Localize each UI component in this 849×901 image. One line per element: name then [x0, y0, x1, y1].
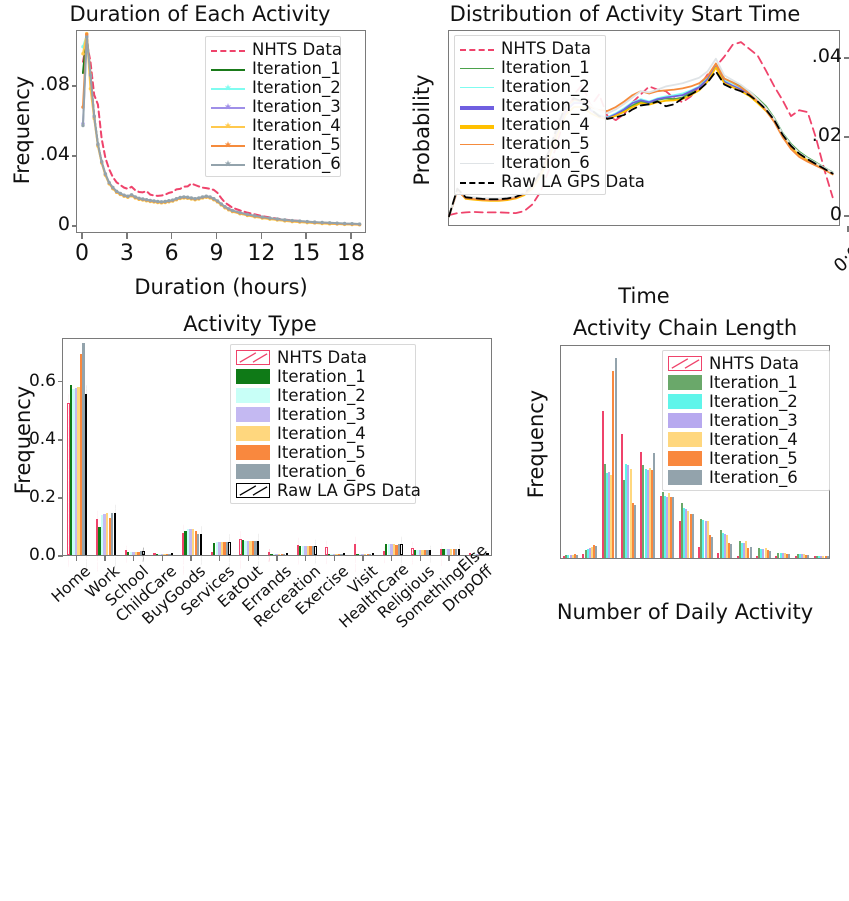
activitytype-legend-item-3: Iteration_3	[236, 405, 410, 424]
legend-label: Iteration_5	[709, 449, 798, 468]
activitytype-legend-item-7: Raw LA GPS Data	[236, 481, 410, 500]
bar-activitytype-0-7	[85, 394, 87, 555]
duration-legend-item-4: Iteration_4	[211, 116, 335, 135]
legend-swatch-6	[460, 155, 494, 171]
panel-starttime: Distribution of Activity Start Time Prob…	[400, 0, 849, 310]
series-marker	[85, 35, 88, 38]
legend-swatch-1	[236, 369, 270, 384]
legend-swatch-5	[211, 137, 245, 153]
series-marker	[253, 214, 256, 217]
legend-label: NHTS Data	[501, 39, 591, 58]
series-marker	[89, 73, 92, 76]
ytick-label: 0.4	[14, 429, 56, 449]
legend-swatch-6	[211, 156, 245, 172]
ytick-label: 0.0	[14, 545, 56, 565]
activitytype-legend-item-1: Iteration_1	[236, 367, 410, 386]
series-marker	[201, 195, 204, 198]
legend-line-icon	[460, 68, 494, 69]
starttime-legend-item-6: Iteration_6	[460, 153, 600, 172]
activitytype-legend-item-5: Iteration_5	[236, 443, 410, 462]
ytick-mark	[72, 155, 77, 157]
legend-swatch-0	[211, 42, 245, 58]
legend-patch	[236, 445, 270, 460]
xtick-mark	[350, 233, 352, 239]
legend-swatch-0	[668, 356, 702, 371]
series-marker	[276, 217, 279, 220]
series-marker	[137, 197, 140, 200]
ytick-mark	[58, 381, 63, 383]
bar-activitytype-13-7	[458, 549, 460, 555]
chainlength-legend-item-1: Iteration_1	[668, 373, 824, 392]
xtick-label: 12	[236, 241, 286, 266]
activitytype-legend-item-6: Iteration_6	[236, 462, 410, 481]
xtick-label: 6	[147, 241, 197, 266]
legend-swatch-4	[668, 432, 702, 447]
ytick-mark	[844, 136, 849, 138]
xtick-label: 3	[102, 241, 152, 266]
bar-chainlength-7-6	[711, 537, 713, 558]
legend-label: Iteration_3	[277, 405, 366, 424]
xtick-mark	[420, 556, 422, 561]
chainlength-legend-item-6: Iteration_6	[668, 468, 824, 487]
bar-chainlength-4-6	[653, 453, 655, 558]
series-marker	[283, 218, 286, 221]
xtick-label: 15	[281, 241, 331, 266]
ytick-label: 0.2	[14, 487, 56, 507]
xtick-mark	[276, 556, 278, 561]
legend-label: Iteration_6	[277, 462, 366, 481]
panel-activitytype: Activity Type Frequency 0.60.40.20.0 Hom…	[0, 310, 510, 645]
starttime-xlabel: Time	[448, 284, 840, 308]
legend-swatch-1	[668, 375, 702, 390]
legend-label: Iteration_1	[277, 367, 366, 386]
legend-patch	[668, 470, 702, 485]
bar-activitytype-11-7	[400, 544, 402, 555]
xtick-label: 18	[326, 241, 376, 266]
series-marker	[92, 114, 95, 117]
legend-swatch-5	[668, 451, 702, 466]
ytick-label: 0	[30, 213, 70, 235]
ytick-label: .02	[800, 124, 842, 146]
legend-line-icon	[460, 49, 494, 51]
starttime-legend-item-5: Iteration_5	[460, 134, 600, 153]
series-marker	[246, 213, 249, 216]
ytick-label: 0	[800, 203, 842, 225]
legend-label: Iteration_4	[252, 116, 341, 135]
bar-chainlength-10-6	[769, 551, 771, 558]
legend-label: Iteration_2	[501, 77, 590, 96]
legend-label: Iteration_6	[501, 153, 590, 172]
bar-chainlength-8-6	[730, 544, 732, 558]
xtick-mark	[261, 233, 263, 239]
chainlength-legend-item-0: NHTS Data	[668, 354, 824, 373]
legend-label: NHTS Data	[277, 348, 367, 367]
legend-patch	[668, 375, 702, 390]
series-marker	[164, 200, 167, 203]
legend-patch	[236, 483, 270, 498]
legend-label: Iteration_2	[709, 392, 798, 411]
duration-legend-item-3: Iteration_3	[211, 97, 335, 116]
legend-label: Iteration_2	[277, 386, 366, 405]
chainlength-legend: NHTS DataIteration_1Iteration_2Iteration…	[662, 350, 830, 491]
series-marker	[197, 196, 200, 199]
activitytype-legend-item-2: Iteration_2	[236, 386, 410, 405]
chainlength-legend-item-2: Iteration_2	[668, 392, 824, 411]
legend-line-icon	[460, 106, 494, 110]
legend-patch	[236, 407, 270, 422]
legend-swatch-3	[236, 407, 270, 422]
starttime-legend-item-7: Raw LA GPS Data	[460, 172, 600, 191]
ytick-mark	[58, 497, 63, 499]
legend-patch	[236, 350, 270, 365]
bar-activitytype-7-7	[286, 553, 288, 555]
series-marker	[145, 198, 148, 201]
xtick-label: 0:00	[818, 234, 849, 287]
legend-label: Iteration_3	[709, 411, 798, 430]
xtick-mark	[104, 556, 106, 561]
xtick-mark	[81, 233, 83, 239]
legend-label: Iteration_2	[252, 78, 341, 97]
bar-activitytype-5-7	[228, 542, 230, 555]
xtick-mark	[171, 233, 173, 239]
chainlength-ylabel: Frequency	[524, 354, 548, 534]
series-marker	[171, 198, 174, 201]
series-marker	[156, 200, 159, 203]
series-marker	[130, 193, 133, 196]
legend-label: Raw LA GPS Data	[277, 481, 421, 500]
series-marker	[141, 197, 144, 200]
xtick-mark	[391, 556, 393, 561]
legend-swatch-3	[668, 413, 702, 428]
legend-swatch-4	[236, 426, 270, 441]
series-marker	[313, 220, 316, 223]
series-marker	[335, 221, 338, 224]
legend-label: NHTS Data	[709, 354, 799, 373]
activitytype-title: Activity Type	[60, 312, 440, 336]
activitytype-legend-item-0: NHTS Data	[236, 348, 410, 367]
legend-line-icon	[211, 69, 245, 71]
series-marker	[208, 195, 211, 198]
legend-swatch-2	[460, 79, 494, 95]
series-marker	[261, 215, 264, 218]
duration-legend-item-2: Iteration_2	[211, 78, 335, 97]
starttime-legend-item-4: Iteration_4	[460, 115, 600, 134]
series-marker	[115, 190, 118, 193]
legend-label: Iteration_6	[252, 154, 341, 173]
series-marker	[107, 181, 110, 184]
bar-chainlength-13-6	[827, 556, 829, 558]
series-marker	[216, 199, 219, 202]
duration-title: Duration of Each Activity	[0, 2, 400, 26]
legend-label: Iteration_3	[501, 96, 590, 115]
bar-activitytype-8-7	[314, 546, 316, 555]
starttime-legend-item-0: NHTS Data	[460, 39, 600, 58]
xtick-mark	[133, 556, 135, 561]
series-marker	[220, 202, 223, 205]
series-marker	[320, 221, 323, 224]
series-marker	[96, 142, 99, 145]
series-marker	[81, 52, 84, 55]
starttime-legend-item-1: Iteration_1	[460, 58, 600, 77]
bar-chainlength-2-6	[615, 358, 617, 558]
series-marker	[193, 197, 196, 200]
legend-line-icon	[460, 125, 494, 129]
series-marker	[212, 197, 215, 200]
legend-label: NHTS Data	[252, 40, 342, 59]
series-marker	[238, 211, 241, 214]
series-marker	[328, 221, 331, 224]
legend-swatch-0	[236, 350, 270, 365]
series-marker	[167, 199, 170, 202]
ytick-mark	[58, 555, 63, 557]
legend-swatch-6	[668, 470, 702, 485]
xtick-mark	[448, 556, 450, 561]
chainlength-legend-item-4: Iteration_4	[668, 430, 824, 449]
legend-swatch-3	[460, 98, 494, 114]
bar-chainlength-9-6	[750, 547, 752, 558]
duration-legend-item-5: Iteration_5	[211, 135, 335, 154]
legend-label: Iteration_5	[277, 443, 366, 462]
xtick-mark	[126, 233, 128, 239]
bar-chainlength-6-6	[692, 514, 694, 558]
legend-line-icon	[460, 87, 494, 88]
legend-label: Iteration_5	[501, 134, 590, 153]
ytick-mark	[844, 57, 849, 59]
bar-chainlength-3-6	[634, 505, 636, 558]
legend-swatch-3	[211, 99, 245, 115]
series-marker	[149, 199, 152, 202]
series-marker	[175, 197, 178, 200]
bar-chainlength-12-6	[807, 555, 809, 558]
legend-swatch-1	[460, 60, 494, 76]
figure-canvas: Duration of Each Activity Frequency .08.…	[0, 0, 849, 645]
legend-patch	[668, 432, 702, 447]
ytick-label: 0.6	[14, 371, 56, 391]
xtick-mark	[334, 556, 336, 561]
panel-duration: Duration of Each Activity Frequency .08.…	[0, 0, 400, 310]
legend-swatch-2	[211, 80, 245, 96]
series-marker	[190, 196, 193, 199]
series-marker	[126, 195, 129, 198]
series-marker	[227, 207, 230, 210]
ytick-label: .04	[800, 45, 842, 67]
legend-line-icon	[460, 163, 494, 164]
legend-swatch-1	[211, 61, 245, 77]
ytick-mark	[58, 439, 63, 441]
bar-activitytype-6-7	[257, 541, 259, 555]
bar-chainlength-1-6	[595, 546, 597, 558]
starttime-legend-item-2: Iteration_2	[460, 77, 600, 96]
legend-label: Iteration_1	[709, 373, 798, 392]
legend-swatch-5	[460, 136, 494, 152]
series-marker	[81, 124, 84, 127]
series-marker	[268, 216, 271, 219]
bar-activitytype-12-7	[429, 550, 431, 555]
legend-label: Raw LA GPS Data	[501, 172, 645, 191]
legend-line-icon	[211, 50, 245, 52]
chainlength-title: Activity Chain Length	[530, 316, 840, 340]
legend-patch	[668, 451, 702, 466]
legend-line-icon	[460, 144, 494, 145]
series-marker	[358, 222, 361, 225]
series-marker	[205, 195, 208, 198]
bar-chainlength-11-6	[788, 554, 790, 558]
series-marker	[231, 209, 234, 212]
legend-label: Iteration_1	[252, 59, 341, 78]
xtick-mark	[477, 556, 479, 561]
duration-legend-item-0: NHTS Data	[211, 40, 335, 59]
legend-swatch-0	[460, 41, 494, 57]
legend-label: Iteration_6	[709, 468, 798, 487]
duration-xlabel: Duration (hours)	[76, 275, 366, 299]
series-marker	[182, 195, 185, 198]
xtick-mark	[190, 556, 192, 561]
legend-patch	[668, 394, 702, 409]
legend-patch	[236, 388, 270, 403]
series-marker	[186, 196, 189, 199]
starttime-ylabel: Probability	[410, 60, 434, 200]
series-marker	[119, 192, 122, 195]
series-marker	[122, 193, 125, 196]
series-marker	[306, 220, 309, 223]
series-marker	[160, 200, 163, 203]
legend-swatch-2	[668, 394, 702, 409]
chainlength-legend-item-3: Iteration_3	[668, 411, 824, 430]
xtick-mark	[162, 556, 164, 561]
bar-activitytype-9-7	[343, 553, 345, 555]
xtick-mark	[216, 233, 218, 239]
chainlength-xlabel: Number of Daily Activity	[530, 600, 840, 624]
xtick-mark	[76, 556, 78, 561]
legend-label: Iteration_3	[252, 97, 341, 116]
legend-label: Iteration_1	[501, 58, 590, 77]
series-marker	[343, 222, 346, 225]
activitytype-legend-item-4: Iteration_4	[236, 424, 410, 443]
series-marker	[111, 186, 114, 189]
legend-swatch-4	[211, 118, 245, 134]
bar-chainlength-0-6	[576, 555, 578, 558]
series-marker	[152, 199, 155, 202]
series-marker	[178, 196, 181, 199]
bar-activitytype-10-7	[372, 553, 374, 555]
legend-patch	[236, 426, 270, 441]
bar-activitytype-3-7	[171, 553, 173, 555]
bar-activitytype-2-7	[142, 551, 144, 555]
xtick-label: 9	[192, 241, 242, 266]
panel-chainlength: Activity Chain Length Frequency 0.40.20.…	[510, 310, 849, 645]
legend-label: Iteration_4	[501, 115, 590, 134]
bar-chainlength-5-6	[672, 497, 674, 558]
legend-label: Iteration_4	[277, 424, 366, 443]
duration-legend-item-6: Iteration_6	[211, 154, 335, 173]
duration-legend-item-1: Iteration_1	[211, 59, 335, 78]
legend-patch	[236, 369, 270, 384]
bar-activitytype-1-7	[114, 513, 116, 555]
series-marker	[298, 219, 301, 222]
ytick-label: .04	[30, 143, 70, 165]
legend-label: Iteration_5	[252, 135, 341, 154]
xtick-label: 0	[57, 241, 107, 266]
xtick-mark	[362, 556, 364, 561]
xtick-mark	[248, 556, 250, 561]
legend-patch	[668, 413, 702, 428]
ytick-mark	[72, 225, 77, 227]
ytick-mark	[72, 85, 77, 87]
ytick-mark	[844, 215, 849, 217]
series-marker	[100, 160, 103, 163]
legend-swatch-7	[236, 483, 270, 498]
legend-patch	[668, 356, 702, 371]
series-marker	[223, 205, 226, 208]
legend-patch	[236, 464, 270, 479]
starttime-legend-item-3: Iteration_3	[460, 96, 600, 115]
legend-swatch-2	[236, 388, 270, 403]
series-marker	[291, 219, 294, 222]
xtick-mark	[219, 556, 221, 561]
ytick-label: .08	[30, 73, 70, 95]
legend-label: Iteration_4	[709, 430, 798, 449]
bar-activitytype-4-7	[200, 534, 202, 555]
starttime-title: Distribution of Activity Start Time	[410, 2, 840, 26]
legend-swatch-5	[236, 445, 270, 460]
series-marker	[350, 222, 353, 225]
duration-legend: NHTS DataIteration_1Iteration_2Iteration…	[205, 36, 341, 177]
xtick-mark	[305, 556, 307, 561]
series-marker	[104, 172, 107, 175]
series-marker	[134, 195, 137, 198]
starttime-legend: NHTS DataIteration_1Iteration_2Iteration…	[454, 35, 606, 195]
legend-swatch-7	[460, 174, 494, 190]
xtick-mark	[305, 233, 307, 239]
legend-swatch-6	[236, 464, 270, 479]
legend-swatch-4	[460, 117, 494, 133]
chainlength-legend-item-5: Iteration_5	[668, 449, 824, 468]
legend-line-icon	[460, 182, 494, 184]
activitytype-legend: NHTS DataIteration_1Iteration_2Iteration…	[230, 344, 416, 504]
